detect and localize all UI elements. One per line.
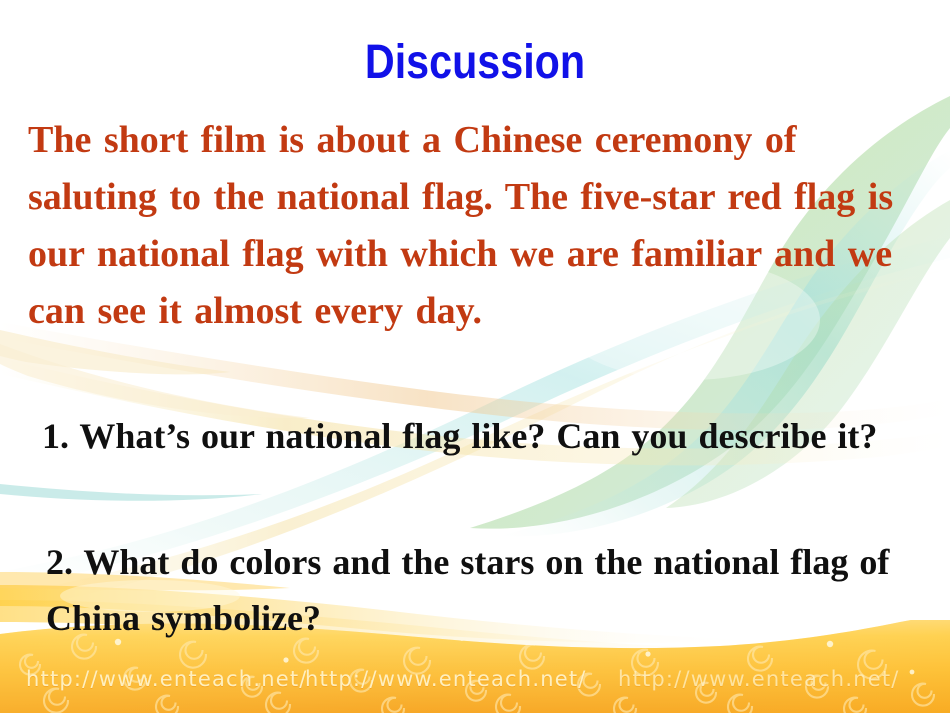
question-1-number: 1. xyxy=(42,416,69,456)
slide-content: Discussion The short film is about a Chi… xyxy=(0,0,950,713)
slide-canvas: http://www.enteach.net/ http://www.entea… xyxy=(0,0,950,713)
discussion-question-1: 1. What’s our national flag like? Can yo… xyxy=(42,408,950,464)
page-title: Discussion xyxy=(67,36,884,90)
intro-paragraph: The short film is about a Chinese ceremo… xyxy=(28,112,926,340)
question-2-text: What do colors and the stars on the nati… xyxy=(46,542,889,638)
question-1-text: What’s our national flag like? Can you d… xyxy=(79,416,877,456)
question-2-number: 2. xyxy=(46,542,73,582)
discussion-question-2: 2. What do colors and the stars on the n… xyxy=(46,534,936,646)
